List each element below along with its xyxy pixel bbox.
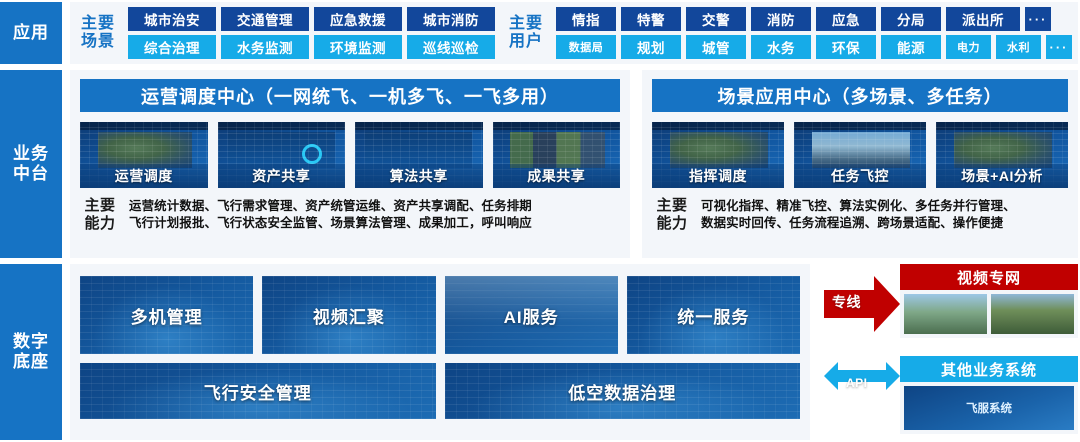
application-row: 主要 场景 城市治安 交通管理 应急救援 城市消防 综合治理 水务监测 环境监测… xyxy=(70,2,1078,64)
video-private-network-card[interactable]: 视频专网 xyxy=(900,264,1078,338)
user-tag[interactable]: 水利 xyxy=(996,35,1041,59)
arrow-svg xyxy=(822,264,902,440)
user-tag[interactable]: 电力 xyxy=(946,35,991,59)
main-scenes-title-line2: 场景 xyxy=(76,33,120,51)
operation-dispatch-center-panel: 运营调度中心（一网统飞、一机多飞、一飞多用） 运营调度 资产共享 xyxy=(70,70,630,258)
connector-arrows: 专线 API xyxy=(822,264,902,440)
user-tag[interactable]: 环保 xyxy=(816,35,876,59)
scene-capabilities: 主要 能力 可视化指挥、精准飞控、算法实例化、多任务并行管理、 数据实时回传、任… xyxy=(652,197,1068,234)
thumb-caption: 算法共享 xyxy=(355,164,483,188)
scene-tag[interactable]: 城市消防 xyxy=(407,7,495,31)
thumb-card[interactable]: 场景+AI分析 xyxy=(936,122,1068,188)
scene-tag[interactable]: 水务监测 xyxy=(221,35,309,59)
main-users-title-line1: 主要 xyxy=(504,15,548,33)
scene-application-thumbs: 指挥调度 任务飞控 场景+AI分析 xyxy=(652,122,1068,188)
rail-business-line2: 中台 xyxy=(13,164,49,184)
main-scenes-title: 主要 场景 xyxy=(76,15,120,52)
thumb-card[interactable]: 资产共享 xyxy=(218,122,346,188)
thumb-card[interactable]: 算法共享 xyxy=(355,122,483,188)
thumb-card[interactable]: 运营调度 xyxy=(80,122,208,188)
operation-capabilities: 主要 能力 运营统计数据、飞行需求管理、资产统管运维、资产共享调配、任务排期 飞… xyxy=(80,197,620,234)
other-business-systems-body: 飞服系统 xyxy=(900,382,1078,434)
thumb-card[interactable]: 成果共享 xyxy=(493,122,621,188)
user-tag[interactable]: 情指 xyxy=(556,7,616,31)
base-card[interactable]: 多机管理 xyxy=(80,276,253,354)
other-business-systems-title: 其他业务系统 xyxy=(900,356,1078,382)
user-tag[interactable]: 派出所 xyxy=(946,7,1020,31)
user-tag[interactable]: 消防 xyxy=(751,7,811,31)
rail-label-application: 应用 xyxy=(0,2,62,64)
dedicated-line-label: 专线 xyxy=(832,292,861,312)
thumb-card[interactable]: 指挥调度 xyxy=(652,122,784,188)
scene-application-center-header: 场景应用中心（多场景、多任务） xyxy=(652,79,1068,112)
base-card-label: 视频汇聚 xyxy=(313,303,385,328)
capabilities-line: 运营统计数据、飞行需求管理、资产统管运维、资产共享调配、任务排期 xyxy=(129,198,532,216)
user-tag[interactable]: 城管 xyxy=(686,35,746,59)
base-card-label: 多机管理 xyxy=(131,303,203,328)
user-tag[interactable]: 水务 xyxy=(751,35,811,59)
user-tag-more[interactable]: ··· xyxy=(1046,35,1072,59)
video-private-network-body xyxy=(900,290,1078,338)
base-card-label: 低空数据治理 xyxy=(568,379,676,404)
main-scenes-title-line1: 主要 xyxy=(76,15,120,33)
base-card[interactable]: 视频汇聚 xyxy=(262,276,435,354)
thumb-caption: 指挥调度 xyxy=(652,164,784,188)
flight-service-system-thumb: 飞服系统 xyxy=(904,386,1074,430)
thumb-caption: 资产共享 xyxy=(218,164,346,188)
video-thumb-image xyxy=(904,294,987,334)
digital-base-row: 多机管理 视频汇聚 AI服务 统一服务 飞行安全管理 xyxy=(70,264,1078,440)
scene-tag[interactable]: 城市治安 xyxy=(128,7,216,31)
capabilities-label-line1: 主要 xyxy=(80,197,120,215)
base-card-label: 统一服务 xyxy=(677,303,749,328)
capabilities-line: 飞行计划报批、飞行状态安全监管、场景算法管理、成果加工，呼叫响应 xyxy=(129,215,532,233)
rail-label-digital-base: 数字 底座 xyxy=(0,264,62,440)
base-card[interactable]: 飞行安全管理 xyxy=(80,363,436,419)
thumb-caption: 成果共享 xyxy=(493,164,621,188)
capabilities-label: 主要 能力 xyxy=(652,197,692,234)
operation-dispatch-center-header: 运营调度中心（一网统飞、一机多飞、一飞多用） xyxy=(80,79,620,112)
rail-base-line1: 数字 xyxy=(13,332,49,352)
main-users-row-secondary: 数据局 规划 城管 水务 环保 能源 电力 水利 ··· xyxy=(556,35,1072,59)
user-tag[interactable]: 交警 xyxy=(686,7,746,31)
user-tag[interactable]: 数据局 xyxy=(556,35,616,59)
user-tag[interactable]: 能源 xyxy=(881,35,941,59)
business-midend-row: 运营调度中心（一网统飞、一机多飞、一飞多用） 运营调度 资产共享 xyxy=(70,70,1078,258)
rail-application-line1: 应用 xyxy=(13,23,49,43)
scene-tag[interactable]: 应急救援 xyxy=(314,7,402,31)
user-tag[interactable]: 规划 xyxy=(621,35,681,59)
main-users-title-line2: 用户 xyxy=(504,33,548,51)
main-scenes-tag-grid: 城市治安 交通管理 应急救援 城市消防 综合治理 水务监测 环境监测 巡线巡检 xyxy=(128,7,495,59)
main-users-tag-grid: 情指 特警 交警 消防 应急 分局 派出所 ··· 数据局 规划 城管 水务 环… xyxy=(556,7,1072,59)
capabilities-label: 主要 能力 xyxy=(80,197,120,234)
scene-tag[interactable]: 环境监测 xyxy=(314,35,402,59)
capabilities-text: 运营统计数据、飞行需求管理、资产统管运维、资产共享调配、任务排期 飞行计划报批、… xyxy=(129,198,532,233)
scene-tag[interactable]: 综合治理 xyxy=(128,35,216,59)
external-systems-group: 专线 API 视频专网 其他业务系统 飞服系统 xyxy=(822,264,1078,440)
operation-dispatch-thumbs: 运营调度 资产共享 算法共享 xyxy=(80,122,620,188)
thumb-caption: 场景+AI分析 xyxy=(936,164,1068,188)
capabilities-line: 数据实时回传、任务流程追溯、跨场景适配、操作便捷 xyxy=(701,215,1016,233)
capabilities-text: 可视化指挥、精准飞控、算法实例化、多任务并行管理、 数据实时回传、任务流程追溯、… xyxy=(701,198,1016,233)
main-scenes-row-primary: 城市治安 交通管理 应急救援 城市消防 xyxy=(128,7,495,31)
user-tag[interactable]: 应急 xyxy=(816,7,876,31)
base-card[interactable]: 统一服务 xyxy=(627,276,800,354)
base-card[interactable]: AI服务 xyxy=(445,276,618,354)
scene-tag[interactable]: 巡线巡检 xyxy=(407,35,495,59)
thumb-caption: 运营调度 xyxy=(80,164,208,188)
main-users-title: 主要 用户 xyxy=(504,15,548,52)
capabilities-label-line2: 能力 xyxy=(652,215,692,233)
main-users-block: 主要 用户 情指 特警 交警 消防 应急 分局 派出所 ··· 数据局 规划 城… xyxy=(504,7,1072,59)
capabilities-label-line1: 主要 xyxy=(652,197,692,215)
user-tag[interactable]: 特警 xyxy=(621,7,681,31)
capabilities-line: 可视化指挥、精准飞控、算法实例化、多任务并行管理、 xyxy=(701,198,1016,216)
main-users-row-primary: 情指 特警 交警 消防 应急 分局 派出所 ··· xyxy=(556,7,1072,31)
rail-base-line2: 底座 xyxy=(13,352,49,372)
other-business-systems-card[interactable]: 其他业务系统 飞服系统 xyxy=(900,356,1078,434)
digital-base-cards-row-2: 飞行安全管理 低空数据治理 xyxy=(80,363,800,419)
thumb-card[interactable]: 任务飞控 xyxy=(794,122,926,188)
capabilities-label-line2: 能力 xyxy=(80,215,120,233)
digital-base-panel: 多机管理 视频汇聚 AI服务 统一服务 飞行安全管理 xyxy=(70,264,810,440)
base-card[interactable]: 低空数据治理 xyxy=(445,363,801,419)
scene-tag[interactable]: 交通管理 xyxy=(221,7,309,31)
base-card-label: AI服务 xyxy=(504,303,559,328)
architecture-diagram: 应用 业务 中台 数字 底座 主要 场景 城市治安 交通管理 应急救援 城市消防 xyxy=(0,0,1080,442)
thumb-caption: 任务飞控 xyxy=(794,164,926,188)
scene-application-center-panel: 场景应用中心（多场景、多任务） 指挥调度 任务飞控 xyxy=(642,70,1078,258)
digital-base-cards-row-1: 多机管理 视频汇聚 AI服务 统一服务 xyxy=(80,276,800,354)
user-tag-more[interactable]: ··· xyxy=(1025,7,1051,31)
main-scenes-row-secondary: 综合治理 水务监测 环境监测 巡线巡检 xyxy=(128,35,495,59)
video-private-network-title: 视频专网 xyxy=(900,264,1078,290)
base-card-label: 飞行安全管理 xyxy=(204,379,312,404)
video-thumb-image xyxy=(991,294,1074,334)
rail-business-line1: 业务 xyxy=(13,144,49,164)
user-tag[interactable]: 分局 xyxy=(881,7,941,31)
api-label: API xyxy=(846,376,868,390)
rail-label-business-midend: 业务 中台 xyxy=(0,70,62,258)
